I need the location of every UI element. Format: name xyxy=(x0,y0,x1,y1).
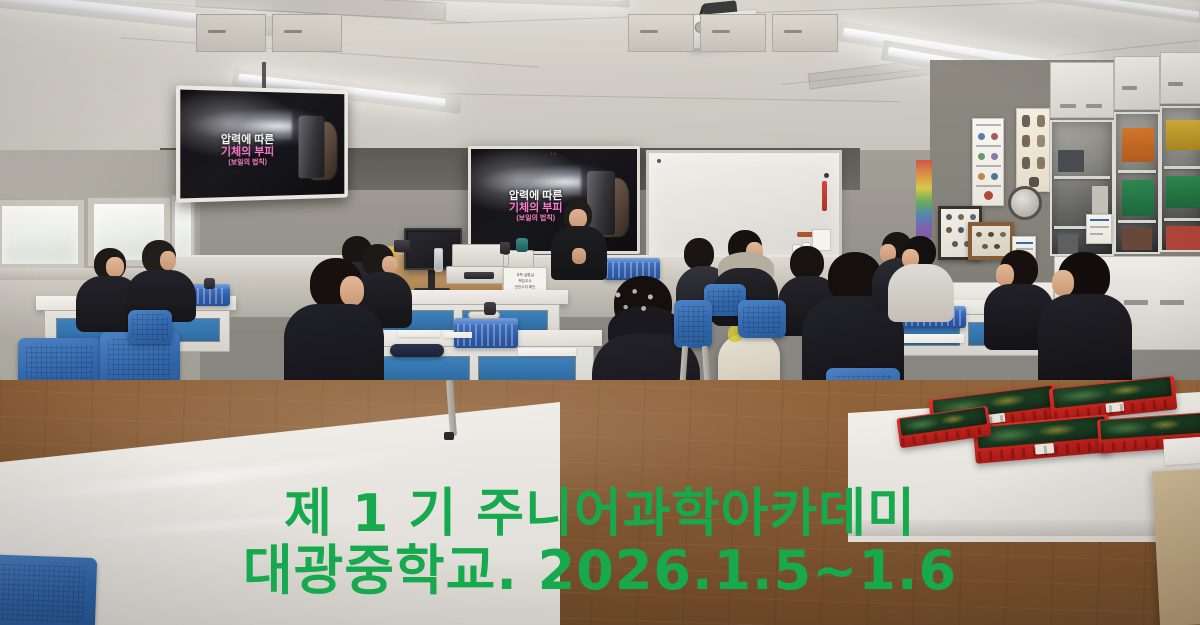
counter-door[interactable] xyxy=(772,14,838,52)
counter-handle[interactable] xyxy=(640,30,658,33)
poster-graphic xyxy=(1037,157,1045,169)
classroom-chair[interactable] xyxy=(738,300,786,338)
student-face xyxy=(160,251,176,270)
frame-specimen xyxy=(958,227,964,233)
side-display: 압력에 따른 기체의 부피 (보일의 법칙) xyxy=(176,85,348,203)
poster-graphic xyxy=(978,133,985,140)
frame-specimen xyxy=(958,214,964,220)
student-face xyxy=(340,276,364,306)
whiteboard-hanging-item xyxy=(822,181,827,211)
student-face xyxy=(382,256,397,273)
poster-graphic xyxy=(978,173,985,180)
science-poster xyxy=(972,118,1004,206)
frame-specimen xyxy=(946,227,952,233)
poster-line xyxy=(976,165,1001,167)
cabinet-stored-item xyxy=(1166,176,1200,208)
slide-line-3: (보일의 법칙) xyxy=(191,158,301,167)
counter-handle[interactable] xyxy=(784,30,802,33)
reagent-bottle xyxy=(434,248,443,272)
cabinet-handle[interactable] xyxy=(1122,86,1137,90)
poster-line xyxy=(976,124,1001,126)
student xyxy=(126,240,198,316)
counter-handle[interactable] xyxy=(284,30,302,33)
spray-can-graphic xyxy=(298,115,324,178)
cabinet-handle[interactable] xyxy=(1160,300,1184,305)
frame-specimen xyxy=(970,214,976,220)
poster-line xyxy=(976,145,1001,147)
poster-graphic xyxy=(1037,115,1045,127)
poster-graphic xyxy=(1022,157,1030,169)
slide-line-2: 기체의 부피 xyxy=(191,146,301,159)
student xyxy=(888,236,954,320)
frame-item xyxy=(994,244,1000,249)
cabinet-handle[interactable] xyxy=(1086,104,1102,108)
student-body xyxy=(1038,294,1132,392)
student xyxy=(1040,252,1130,386)
label-line xyxy=(1090,226,1109,228)
chair-foot xyxy=(444,432,454,440)
counter-handle[interactable] xyxy=(208,30,226,33)
poster-graphic xyxy=(1029,177,1039,187)
student-hoodie xyxy=(888,264,954,322)
cabinet-shelf xyxy=(1054,176,1110,179)
student-face xyxy=(1052,270,1074,296)
desk-front-panel xyxy=(372,356,470,382)
poster-graphic xyxy=(1022,135,1030,147)
whiteboard-magnet xyxy=(657,159,661,163)
display-brand-label: LG xyxy=(551,151,557,156)
frame-specimen xyxy=(946,214,952,220)
cabinet-stored-item xyxy=(1122,180,1154,216)
cabinet-upper-door[interactable] xyxy=(1050,62,1114,118)
poster-graphic xyxy=(978,153,985,160)
counter-door[interactable] xyxy=(272,14,342,52)
cabinet-handle[interactable] xyxy=(1060,104,1076,108)
poster-graphic xyxy=(1037,135,1045,147)
monitor-stand xyxy=(428,270,435,290)
cabinet-stored-item xyxy=(1166,120,1200,150)
cabinet-stored-item xyxy=(1166,226,1200,250)
desk-front-panel xyxy=(478,356,576,382)
worksheet xyxy=(398,330,440,337)
cabinet-stored-item xyxy=(1058,234,1078,254)
frame-item xyxy=(976,232,982,237)
slide-background: 압력에 따른 기체의 부피 (보일의 법칙) xyxy=(180,90,344,199)
small-device xyxy=(204,278,215,289)
lab-bottle xyxy=(516,238,528,252)
cabinet-upper-door[interactable] xyxy=(1114,56,1160,110)
classroom-chair[interactable] xyxy=(128,310,172,344)
small-device xyxy=(484,302,496,315)
classroom-chair[interactable] xyxy=(0,554,97,625)
poster-graphic xyxy=(991,173,998,180)
cabinet-stored-item xyxy=(1058,150,1084,172)
poster-line xyxy=(976,185,1001,187)
patterned-headwear xyxy=(610,286,666,320)
counter-handle[interactable] xyxy=(712,30,730,33)
round-mirror xyxy=(1008,186,1042,220)
cabinet-handle[interactable] xyxy=(1168,82,1183,86)
worksheet xyxy=(900,334,964,343)
poster-graphic xyxy=(1022,115,1030,127)
slide-line-1: 압력에 따른 xyxy=(191,133,301,146)
poster-graphic xyxy=(991,133,998,140)
frame-item xyxy=(988,232,994,237)
whiteboard-magnet xyxy=(824,173,829,178)
notice-line xyxy=(1016,242,1033,244)
cabinet-upper-door[interactable] xyxy=(1160,52,1200,104)
cabinet-shelf xyxy=(1118,220,1156,223)
slide-text: 압력에 따른 기체의 부피 (보일의 법칙) xyxy=(191,133,301,167)
poster-graphic xyxy=(991,153,998,160)
lab-equipment-small xyxy=(500,242,510,254)
color-chart-strip xyxy=(916,160,932,238)
science-poster xyxy=(1016,108,1050,192)
window-glass xyxy=(2,206,78,264)
cabinet-stored-item xyxy=(1122,128,1154,162)
frame-item xyxy=(982,244,988,249)
worksheet-stack xyxy=(1163,437,1200,466)
student-face xyxy=(996,264,1014,286)
label-line xyxy=(1090,219,1109,221)
basket-rim xyxy=(604,258,660,263)
pencil-case xyxy=(390,344,444,357)
classroom-chair[interactable] xyxy=(674,300,712,348)
worksheet xyxy=(444,332,472,338)
cabinet-inner-label xyxy=(1086,214,1112,244)
counter-door[interactable] xyxy=(196,14,266,52)
counter-door[interactable] xyxy=(628,14,694,52)
cardboard-box xyxy=(1152,469,1200,625)
poster-graphic xyxy=(984,191,993,200)
monitor-screen xyxy=(408,232,458,266)
classroom-photo: 압력에 따른 기체의 부피 (보일의 법칙) LG 압력에 따른 기체의 부피 … xyxy=(0,0,1200,625)
cabinet-shelf xyxy=(1164,218,1200,221)
cabinet-stored-item xyxy=(1122,228,1152,250)
frame-item xyxy=(1000,232,1006,237)
cabinet-shelf xyxy=(1164,166,1200,169)
student-face xyxy=(106,257,124,277)
teacher xyxy=(548,200,610,278)
teacher-hands xyxy=(572,248,586,264)
equipment-display xyxy=(464,272,494,279)
worksheet xyxy=(518,348,576,356)
monitor-mount xyxy=(262,62,266,90)
label-line xyxy=(1090,233,1103,235)
cabinet-shelf xyxy=(1118,170,1156,173)
counter-door[interactable] xyxy=(700,14,766,52)
table-edge xyxy=(848,520,1200,536)
